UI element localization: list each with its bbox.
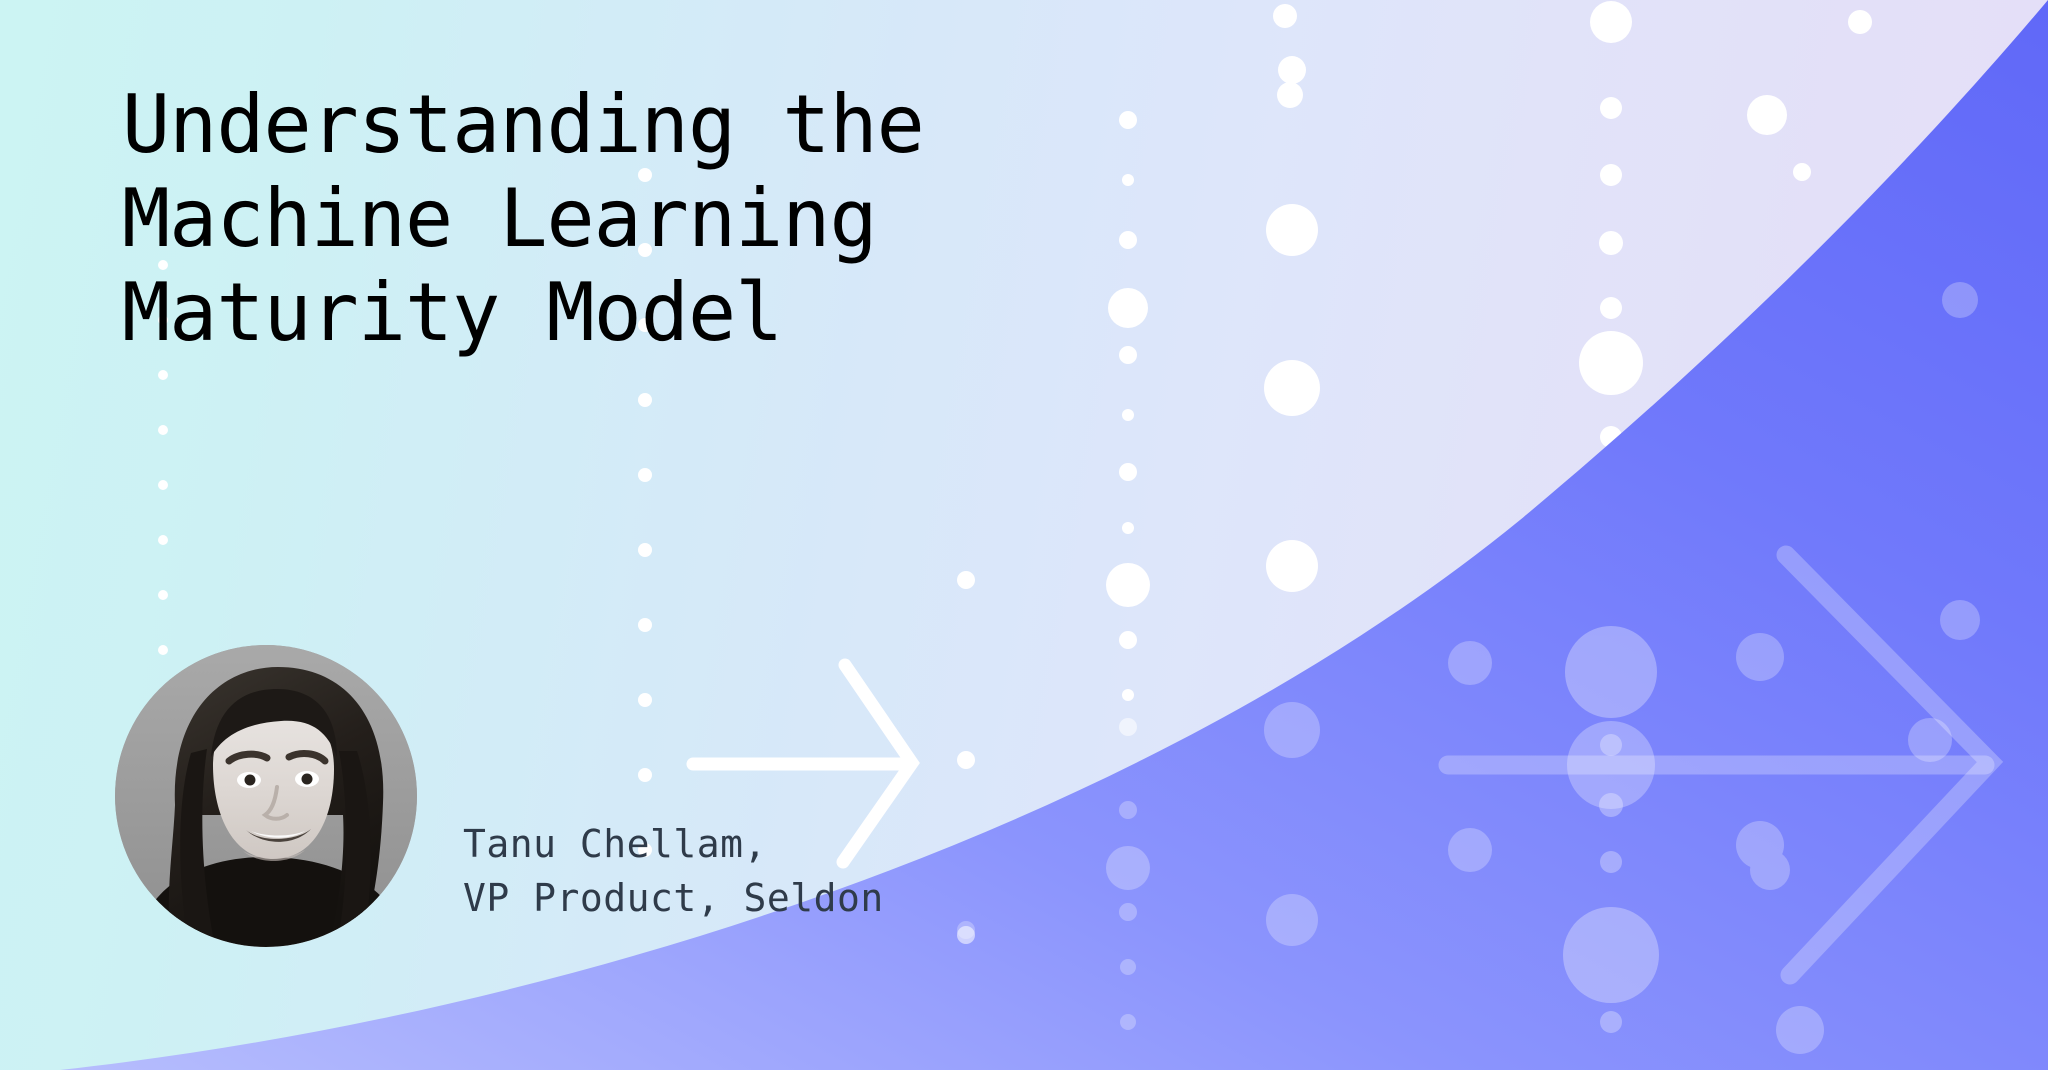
title-slide: Understanding the Machine Learning Matur…	[0, 0, 2048, 1070]
speaker-credit: Tanu Chellam, VP Product, Seldon	[463, 817, 884, 925]
slide-content: Understanding the Machine Learning Matur…	[0, 0, 2048, 1070]
avatar-portrait	[115, 645, 417, 947]
page-title: Understanding the Machine Learning Matur…	[122, 78, 1122, 360]
avatar	[115, 645, 417, 947]
